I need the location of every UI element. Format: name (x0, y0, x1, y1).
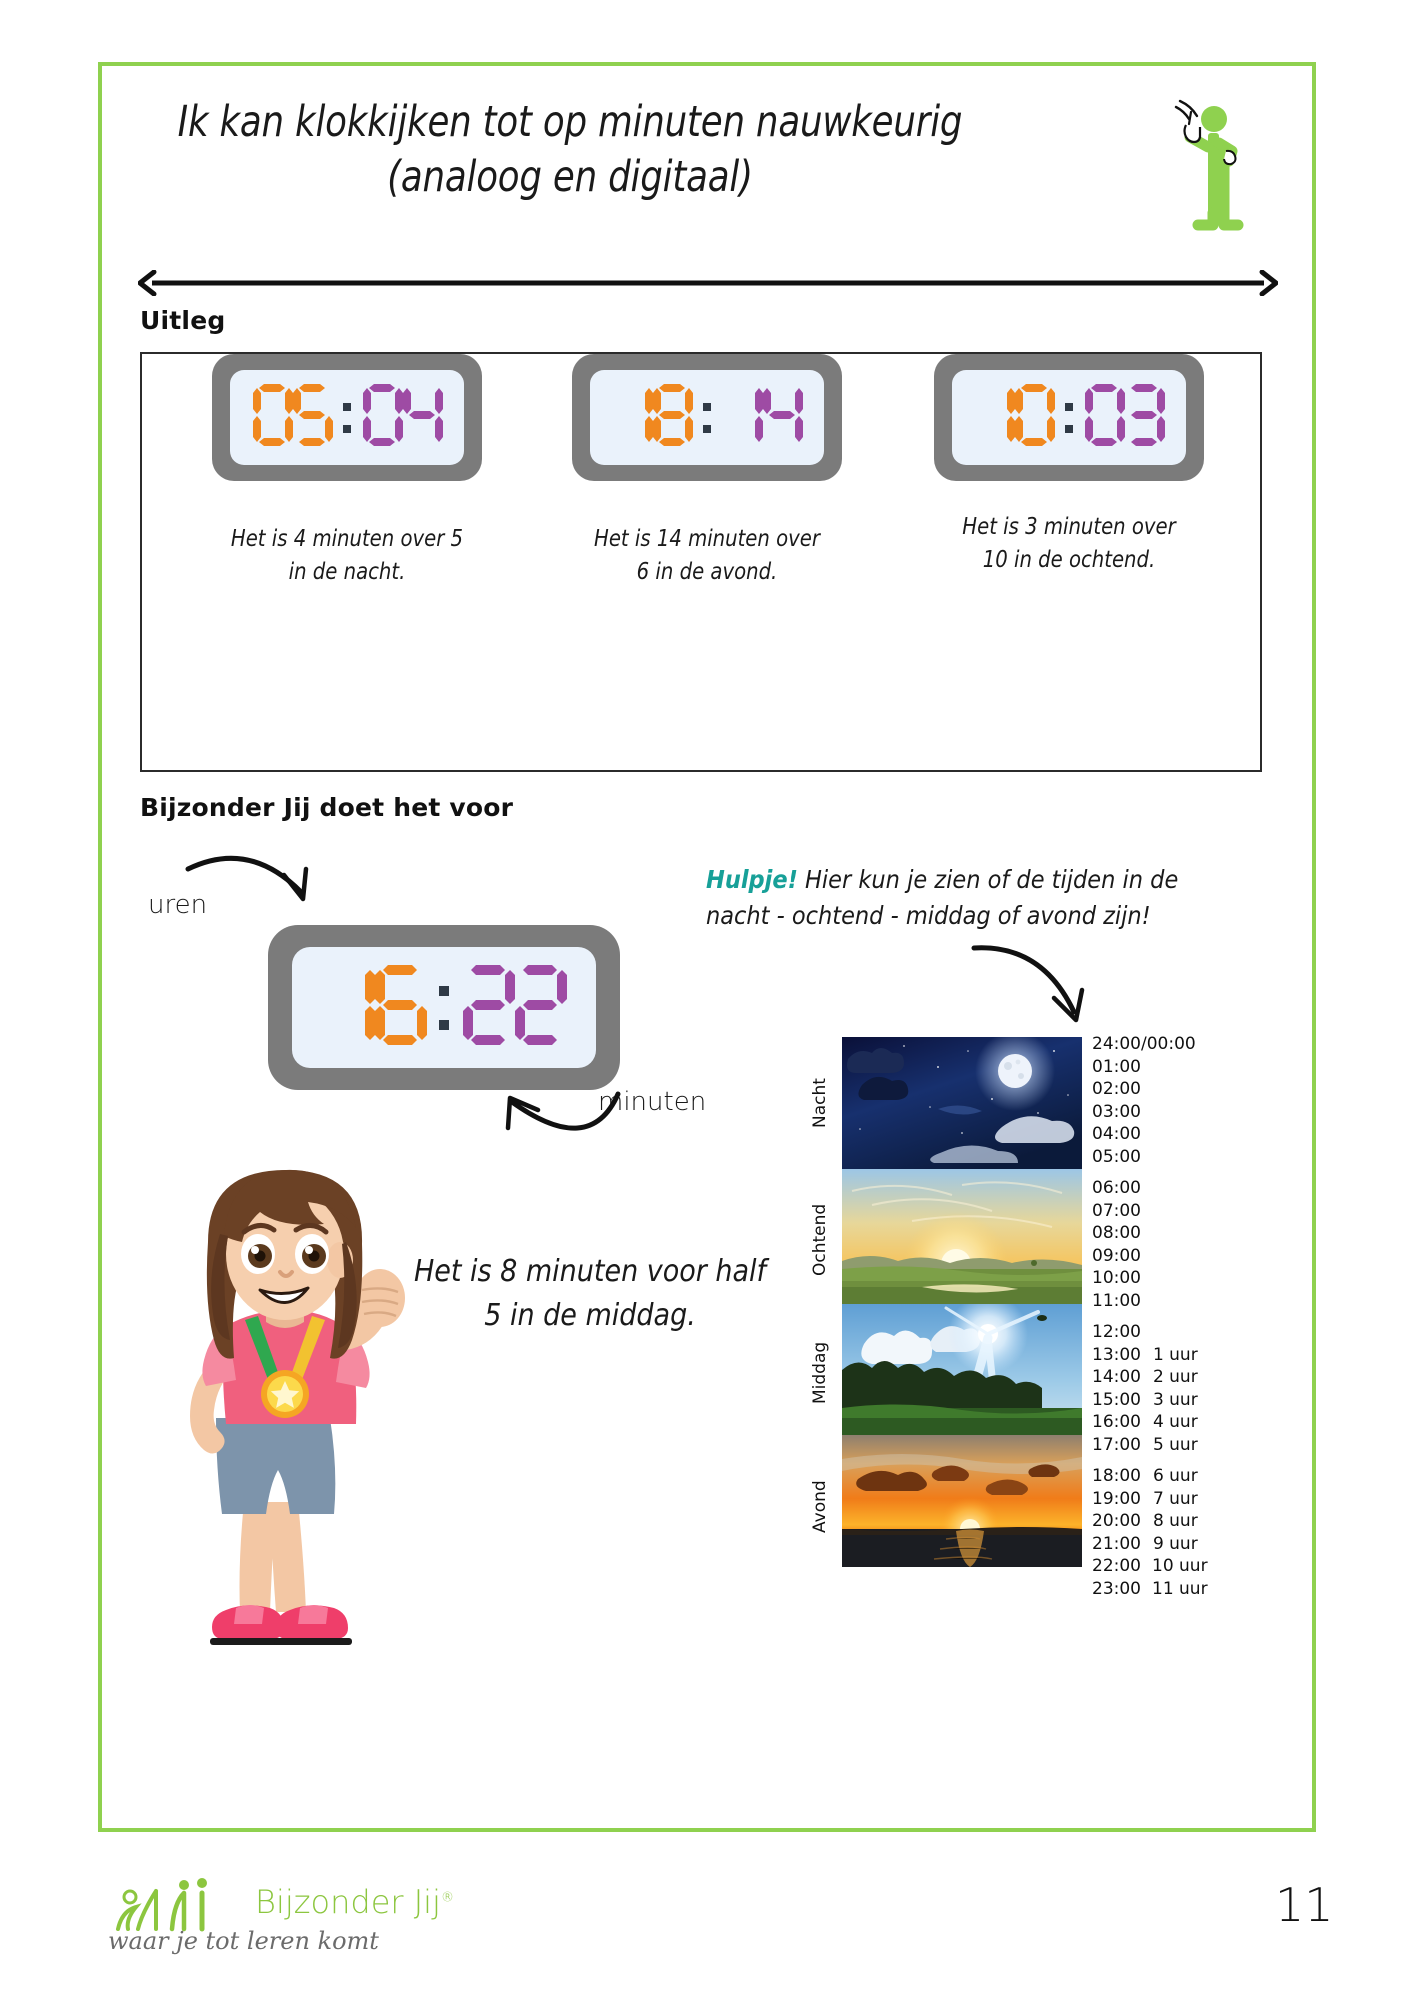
time-24h: 21:00 (1092, 1534, 1153, 1554)
time-24h: 16:00 (1092, 1412, 1153, 1432)
time-24h: 13:00 (1092, 1345, 1153, 1365)
time-row: 10:00 (1092, 1267, 1207, 1290)
time-24h: 05:00 (1092, 1147, 1153, 1167)
time-row: 20:008 uur (1092, 1510, 1207, 1533)
clock-hours (252, 384, 332, 451)
time-24h: 12:00 (1092, 1322, 1153, 1342)
clock-example-0: Het is 4 minuten over 5 in de nacht. (182, 354, 512, 590)
hulpje-lead: Hulpje! (706, 865, 798, 894)
section-heading-voordoen: Bijzonder Jij doet het voor (140, 793, 513, 822)
hulpje-note: Hulpje! Hier kun je zien of de tijden in… (706, 862, 1206, 933)
big-clock-caption-line-1: Het is 8 minuten voor half (400, 1250, 780, 1294)
tod-label-avond: Avond (810, 1457, 842, 1557)
time-row: 14:002 uur (1092, 1366, 1207, 1389)
clock-screen (952, 370, 1186, 465)
seven-segment-digit (462, 965, 514, 1045)
clock-caption-line-1: Het is 3 minuten over (912, 511, 1226, 544)
time-24h: 01:00 (1092, 1057, 1153, 1077)
time-row: 02:00 (1092, 1078, 1207, 1101)
logo-name: Bijzonder Jij (255, 1883, 441, 1921)
digital-clock (212, 354, 482, 481)
clock-minutes (722, 384, 802, 451)
time-24h: 23:00 (1092, 1579, 1152, 1599)
time-24h: 03:00 (1092, 1102, 1153, 1122)
time-row: 09:00 (1092, 1245, 1207, 1268)
girl-character-illustration (140, 1150, 430, 1675)
arrow-to-time-panel-icon (970, 940, 1110, 1040)
time-row: 16:004 uur (1092, 1411, 1207, 1434)
clock-example-2: Het is 3 minuten over 10 in de ochtend. (904, 354, 1234, 578)
clock-caption: Het is 3 minuten over 10 in de ochtend. (912, 511, 1226, 578)
time-12h: 1 uur (1153, 1345, 1207, 1365)
time-row: 22:0010 uur (1092, 1555, 1207, 1578)
arrow-to-minutes-icon (490, 1080, 630, 1170)
clock-hours (322, 965, 426, 1050)
digital-clock (572, 354, 842, 481)
tod-label-middag: Middag (810, 1323, 842, 1423)
seven-segment-digit (514, 965, 566, 1045)
seven-segment-digit (722, 384, 762, 446)
page-number: 11 (1275, 1878, 1334, 1932)
seven-segment-digit (652, 384, 692, 446)
time-row: 17:005 uur (1092, 1434, 1207, 1457)
clock-caption-line-2: in de nacht. (190, 556, 504, 589)
time-row: 18:006 uur (1092, 1465, 1207, 1488)
time-24h: 02:00 (1092, 1079, 1153, 1099)
seven-segment-digit (762, 384, 802, 446)
time-row: 21:009 uur (1092, 1533, 1207, 1556)
night-moon-clouds-image (842, 1037, 1082, 1169)
clock-colon-icon (703, 395, 711, 441)
seven-segment-digit (1014, 384, 1054, 446)
stick-figure-pointing-icon (1150, 95, 1270, 235)
clock-examples-row: Het is 4 minuten over 5 in de nacht. Het… (142, 354, 1260, 770)
seven-segment-digit (1084, 384, 1124, 446)
clock-screen (230, 370, 464, 465)
time-row: 06:00 (1092, 1177, 1207, 1200)
time-row: 07:00 (1092, 1200, 1207, 1223)
time-24h: 20:00 (1092, 1511, 1153, 1531)
clock-caption-line-1: Het is 4 minuten over 5 (190, 523, 504, 556)
time-12h: 5 uur (1153, 1435, 1207, 1455)
seven-segment-digit (974, 384, 1014, 446)
seven-segment-digit (374, 965, 426, 1045)
time-row: 24:00/00:00 (1092, 1033, 1207, 1056)
section-heading-uitleg: Uitleg (140, 306, 225, 335)
seven-segment-digit (292, 384, 332, 446)
time-24h: 04:00 (1092, 1124, 1153, 1144)
clock-caption-line-2: 6 in de avond. (550, 556, 864, 589)
seven-segment-digit (322, 965, 374, 1045)
time-of-day-image-strip (842, 1037, 1082, 1567)
time-24h: 06:00 (1092, 1178, 1153, 1198)
clock-minutes (462, 965, 566, 1050)
digital-clock (934, 354, 1204, 481)
tod-label-ochtend: Ochtend (810, 1185, 842, 1295)
clock-hours (974, 384, 1054, 451)
seven-segment-digit (1124, 384, 1164, 446)
time-24h: 10:00 (1092, 1268, 1153, 1288)
time-24h: 17:00 (1092, 1435, 1153, 1455)
time-24h: 15:00 (1092, 1390, 1153, 1410)
time-row: 03:00 (1092, 1101, 1207, 1124)
time-24h: 07:00 (1092, 1201, 1153, 1221)
time-of-day-panel: Nacht Ochtend Middag Avond (810, 1037, 1210, 1567)
time-12h: 11 uur (1152, 1579, 1207, 1599)
big-clock-caption: Het is 8 minuten voor half 5 in de midda… (400, 1250, 780, 1337)
time-24h: 09:00 (1092, 1246, 1153, 1266)
time-row: 04:00 (1092, 1123, 1207, 1146)
sunrise-field-image (842, 1169, 1082, 1304)
clock-colon-icon (439, 978, 449, 1038)
hulpje-text-line-2: nacht - ochtend - middag of avond zijn! (706, 898, 1206, 934)
clock-colon-icon (343, 395, 351, 441)
clock-screen (590, 370, 824, 465)
time-12h: 4 uur (1153, 1412, 1207, 1432)
time-row: 19:007 uur (1092, 1488, 1207, 1511)
uitleg-box: Het is 4 minuten over 5 in de nacht. Het… (140, 352, 1262, 772)
time-row: 15:003 uur (1092, 1389, 1207, 1412)
time-12h: 6 uur (1153, 1466, 1207, 1486)
logo-registered-mark: ® (441, 1890, 454, 1905)
seven-segment-digit (612, 384, 652, 446)
digital-clock-large (268, 925, 620, 1090)
time-list: 24:00/00:0001:0002:0003:0004:0005:0006:0… (1092, 1033, 1207, 1600)
page-title: Ik kan klokkijken tot op minuten nauwkeu… (120, 95, 1020, 205)
clock-caption: Het is 4 minuten over 5 in de nacht. (190, 523, 504, 590)
time-row: 23:0011 uur (1092, 1578, 1207, 1601)
time-row: 08:00 (1092, 1222, 1207, 1245)
clock-caption: Het is 14 minuten over 6 in de avond. (550, 523, 864, 590)
time-12h: 9 uur (1153, 1534, 1207, 1554)
clock-minutes (1084, 384, 1164, 451)
time-24h: 08:00 (1092, 1223, 1153, 1243)
clock-caption-line-1: Het is 14 minuten over (550, 523, 864, 556)
big-clock-caption-line-2: 5 in de middag. (400, 1294, 780, 1338)
clock-example-1: Het is 14 minuten over 6 in de avond. (542, 354, 872, 590)
time-24h: 18:00 (1092, 1466, 1153, 1486)
time-row: 05:00 (1092, 1146, 1207, 1169)
time-row: 11:00 (1092, 1290, 1207, 1313)
time-12h: 8 uur (1153, 1511, 1207, 1531)
time-24h: 22:00 (1092, 1556, 1152, 1576)
sunset-ocean-image (842, 1435, 1082, 1567)
time-12h: 2 uur (1153, 1367, 1207, 1387)
seven-segment-digit (362, 384, 402, 446)
midday-sun-forest-image (842, 1304, 1082, 1435)
time-24h: 24:00/00:00 (1092, 1034, 1154, 1054)
seven-segment-digit (252, 384, 292, 446)
logo-wordmark: Bijzonder Jij® (255, 1883, 454, 1921)
time-12h: 3 uur (1153, 1390, 1207, 1410)
clock-minutes (362, 384, 442, 451)
time-row: 13:001 uur (1092, 1344, 1207, 1367)
page-title-line-2: (analoog en digitaal) (156, 150, 984, 205)
clock-hours (612, 384, 692, 451)
time-24h: 14:00 (1092, 1367, 1153, 1387)
logo-tagline: waar je tot leren komt (108, 1927, 379, 1955)
time-row: 01:00 (1092, 1056, 1207, 1079)
time-12h: 10 uur (1152, 1556, 1207, 1576)
clock-caption-line-2: 10 in de ochtend. (912, 544, 1226, 577)
time-24h: 19:00 (1092, 1489, 1153, 1509)
time-row: 12:00 (1092, 1321, 1207, 1344)
footer-logo: Bijzonder Jij® waar je tot leren komt (100, 1875, 350, 1970)
tod-label-nacht: Nacht (810, 1055, 842, 1151)
page-title-line-1: Ik kan klokkijken tot op minuten nauwkeu… (156, 95, 984, 150)
time-24h: 11:00 (1092, 1291, 1153, 1311)
hulpje-text-line-1: Hier kun je zien of de tijden in de (798, 865, 1178, 894)
clock-colon-icon (1065, 395, 1073, 441)
seven-segment-digit (402, 384, 442, 446)
double-headed-arrow-divider (138, 270, 1278, 296)
clock-screen (292, 947, 596, 1068)
big-clock-wrapper (268, 925, 620, 1090)
time-12h: 7 uur (1153, 1489, 1207, 1509)
